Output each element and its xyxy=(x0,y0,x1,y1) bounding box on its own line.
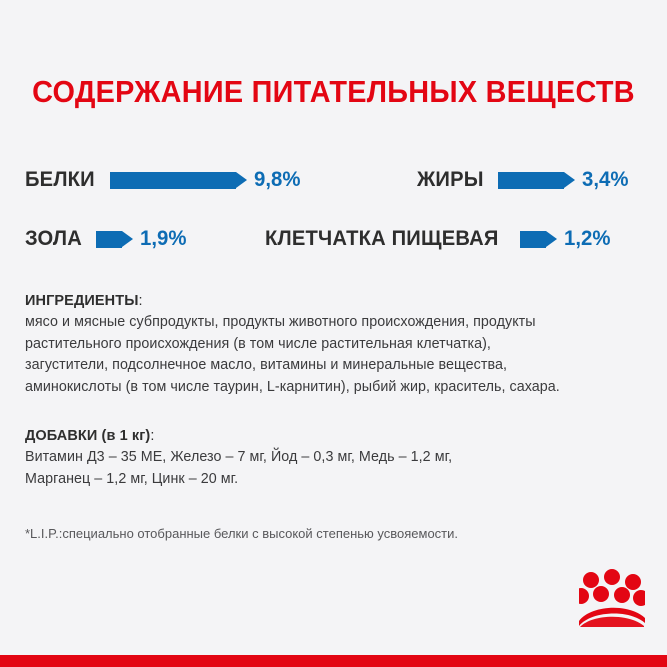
ingredients-heading-colon: : xyxy=(139,293,143,309)
additives-line: Витамин Д3 – 35 МЕ, Железо – 7 мг, Йод –… xyxy=(25,447,645,469)
nutrient-bar-protein xyxy=(110,172,236,189)
nutrient-row: БЕЛКИ 9,8% ЖИРЫ 3,4% xyxy=(25,158,642,202)
nutrition-info-panel: СОДЕРЖАНИЕ ПИТАТЕЛЬНЫХ ВЕЩЕСТВ БЕЛКИ 9,8… xyxy=(0,0,667,667)
ingredients-heading: ИНГРЕДИЕНТЫ: xyxy=(25,293,645,309)
additives-line: Марганец – 1,2 мг, Цинк – 20 мг. xyxy=(25,469,645,491)
nutrient-label-fat: ЖИРЫ xyxy=(417,168,484,192)
ingredients-heading-text: ИНГРЕДИЕНТЫ xyxy=(25,293,139,309)
nutrient-fat: ЖИРЫ 3,4% xyxy=(396,168,642,192)
ingredients-line: аминокислоты (в том числе таурин, L-карн… xyxy=(25,377,645,399)
additives-section: ДОБАВКИ (в 1 кг): Витамин Д3 – 35 МЕ, Же… xyxy=(25,428,645,490)
additives-heading-text: ДОБАВКИ (в 1 кг) xyxy=(25,428,150,444)
nutrient-fibre: КЛЕТЧАТКА ПИЩЕВАЯ 1,2% xyxy=(265,227,642,251)
crown-icon xyxy=(579,569,645,627)
lip-footnote: *L.I.P.:специально отобранные белки с вы… xyxy=(25,525,645,543)
nutrient-label-ash: ЗОЛА xyxy=(25,227,82,251)
nutrient-bar-fibre xyxy=(520,231,546,248)
nutrient-value-ash: 1,9% xyxy=(140,227,186,251)
nutrient-value-fibre: 1,2% xyxy=(564,227,610,251)
page-title: СОДЕРЖАНИЕ ПИТАТЕЛЬНЫХ ВЕЩЕСТВ xyxy=(23,74,643,110)
nutrient-value-fat: 3,4% xyxy=(582,168,628,192)
bottom-accent-bar xyxy=(0,655,667,667)
nutrient-value-protein: 9,8% xyxy=(254,168,300,192)
nutrient-protein: БЕЛКИ 9,8% xyxy=(25,168,396,192)
ingredients-line: растительного происхождения (в том числе… xyxy=(25,334,645,356)
footnote-section: *L.I.P.:специально отобранные белки с вы… xyxy=(25,525,645,543)
nutrient-label-protein: БЕЛКИ xyxy=(25,168,95,192)
nutrient-row: ЗОЛА 1,9% КЛЕТЧАТКА ПИЩЕВАЯ 1,2% xyxy=(25,217,642,261)
nutrient-ash: ЗОЛА 1,9% xyxy=(25,227,265,251)
nutrient-bar-ash xyxy=(96,231,122,248)
ingredients-line: загустители, подсолнечное масло, витамин… xyxy=(25,355,645,377)
ingredients-section: ИНГРЕДИЕНТЫ: мясо и мясные субпродукты, … xyxy=(25,293,645,398)
nutrient-label-fibre: КЛЕТЧАТКА ПИЩЕВАЯ xyxy=(265,227,499,251)
royal-canin-crown-logo xyxy=(579,569,645,627)
ingredients-line: мясо и мясные субпродукты, продукты живо… xyxy=(25,312,645,334)
nutrient-bar-fat xyxy=(498,172,564,189)
additives-heading-colon: : xyxy=(150,428,154,444)
additives-heading: ДОБАВКИ (в 1 кг): xyxy=(25,428,645,444)
nutrient-table: БЕЛКИ 9,8% ЖИРЫ 3,4% ЗОЛА 1,9% КЛЕТЧАТКА… xyxy=(25,158,642,261)
